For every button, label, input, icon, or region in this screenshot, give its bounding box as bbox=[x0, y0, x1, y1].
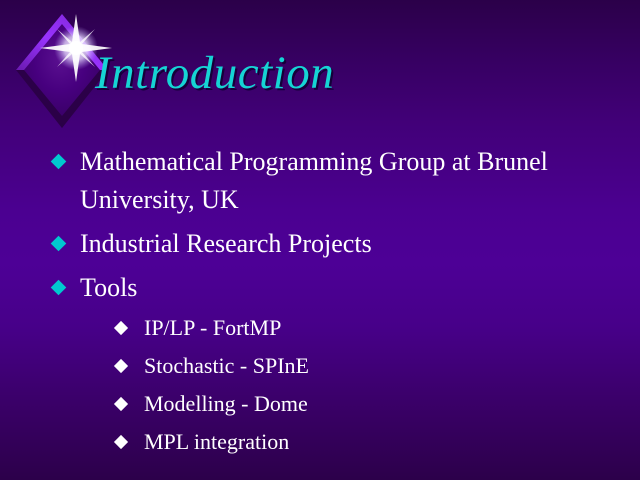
bullet-list-level1: Mathematical Programming Group at Brunel… bbox=[50, 143, 610, 457]
slide-body: Mathematical Programming Group at Brunel… bbox=[50, 143, 610, 465]
diamond-bullet-icon bbox=[114, 397, 128, 411]
bullet-text: Tools bbox=[80, 273, 137, 302]
list-item: Industrial Research Projects bbox=[50, 225, 550, 263]
list-item: IP/LP - FortMP bbox=[80, 313, 550, 343]
bullet-text: Mathematical Programming Group at Brunel… bbox=[80, 147, 548, 214]
diamond-bullet-icon bbox=[114, 435, 128, 449]
presentation-slide: Introduction Mathematical Programming Gr… bbox=[0, 0, 640, 480]
list-item: Modelling - Dome bbox=[80, 389, 550, 419]
bullet-text: IP/LP - FortMP bbox=[144, 313, 281, 343]
bullet-text: Modelling - Dome bbox=[144, 389, 308, 419]
list-item: MPL integration bbox=[80, 427, 550, 457]
diamond-bullet-icon bbox=[51, 236, 67, 252]
bullet-list-level2: IP/LP - FortMP Stochastic - SPInE Modell… bbox=[80, 313, 550, 457]
page-title: Introduction bbox=[95, 44, 334, 102]
list-item: Stochastic - SPInE bbox=[80, 351, 550, 381]
diamond-bullet-icon bbox=[114, 359, 128, 373]
diamond-bullet-icon bbox=[51, 280, 67, 296]
list-item: Tools IP/LP - FortMP Stochastic - SPInE … bbox=[50, 269, 550, 457]
bullet-text: Stochastic - SPInE bbox=[144, 351, 309, 381]
bullet-text: Industrial Research Projects bbox=[80, 229, 372, 258]
list-item: Mathematical Programming Group at Brunel… bbox=[50, 143, 550, 219]
diamond-bullet-icon bbox=[51, 154, 67, 170]
title-row: Introduction bbox=[0, 44, 640, 114]
bullet-text: MPL integration bbox=[144, 427, 289, 457]
diamond-bullet-icon bbox=[114, 321, 128, 335]
